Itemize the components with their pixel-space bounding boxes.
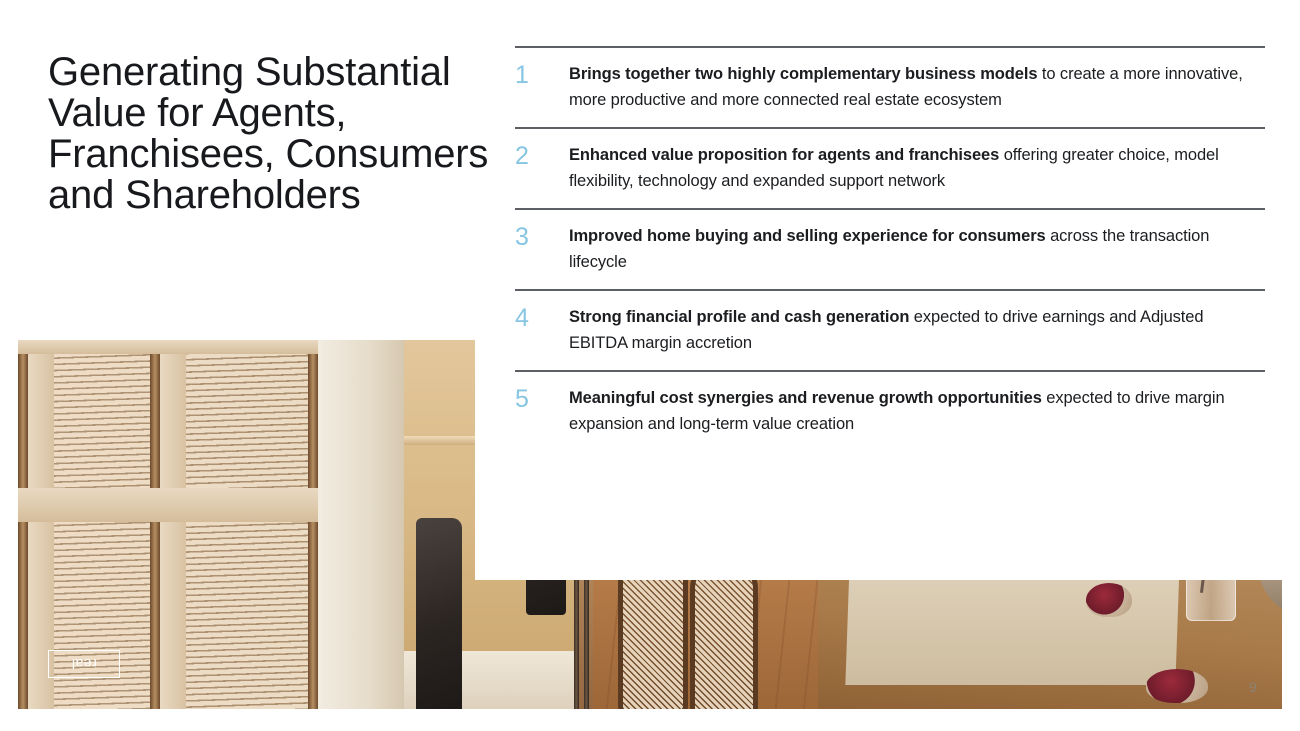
list-item: 5 Meaningful cost synergies and revenue … <box>515 370 1265 451</box>
slide-canvas: Generating Substantial Value for Agents,… <box>0 0 1300 731</box>
cream-wall-pillar <box>318 340 404 713</box>
louver-rail-mid <box>18 488 318 522</box>
list-item-headline: Brings together two highly complementary… <box>569 65 1037 83</box>
list-item: 1 Brings together two highly complementa… <box>515 46 1265 127</box>
louver-frame-left <box>18 340 28 713</box>
list-item-number: 5 <box>515 386 569 412</box>
slide-bottom-margin <box>0 709 1300 731</box>
list-item-number: 4 <box>515 305 569 331</box>
page-title: Generating Substantial Value for Agents,… <box>48 52 498 216</box>
page-number: 9 <box>1249 679 1257 695</box>
louver-frame-mid <box>150 340 160 713</box>
key-points-list: 1 Brings together two highly complementa… <box>515 46 1265 451</box>
real-logo: real <box>48 650 120 678</box>
list-item-headline: Meaningful cost synergies and revenue gr… <box>569 389 1042 407</box>
list-item-headline: Improved home buying and selling experie… <box>569 227 1046 245</box>
list-item-number: 1 <box>515 62 569 88</box>
list-item-number: 3 <box>515 224 569 250</box>
list-item-headline: Enhanced value proposition for agents an… <box>569 146 999 164</box>
list-item-text: Enhanced value proposition for agents an… <box>569 143 1265 194</box>
list-item-number: 2 <box>515 143 569 169</box>
pomegranate-front <box>1146 669 1208 703</box>
list-item: 2 Enhanced value proposition for agents … <box>515 127 1265 208</box>
pomegranate-center <box>1086 583 1132 617</box>
list-item-text: Strong financial profile and cash genera… <box>569 305 1265 356</box>
list-item-text: Improved home buying and selling experie… <box>569 224 1265 275</box>
louver-stile-b <box>160 340 186 713</box>
real-logo-text: real <box>49 651 119 677</box>
list-item-headline: Strong financial profile and cash genera… <box>569 308 909 326</box>
list-item-text: Meaningful cost synergies and revenue gr… <box>569 386 1265 437</box>
louver-frame-right <box>308 340 318 713</box>
dark-chair-back-left <box>416 518 462 713</box>
list-item: 4 Strong financial profile and cash gene… <box>515 289 1265 370</box>
list-item-text: Brings together two highly complementary… <box>569 62 1265 113</box>
louver-rail-top <box>18 340 318 354</box>
list-item: 3 Improved home buying and selling exper… <box>515 208 1265 289</box>
